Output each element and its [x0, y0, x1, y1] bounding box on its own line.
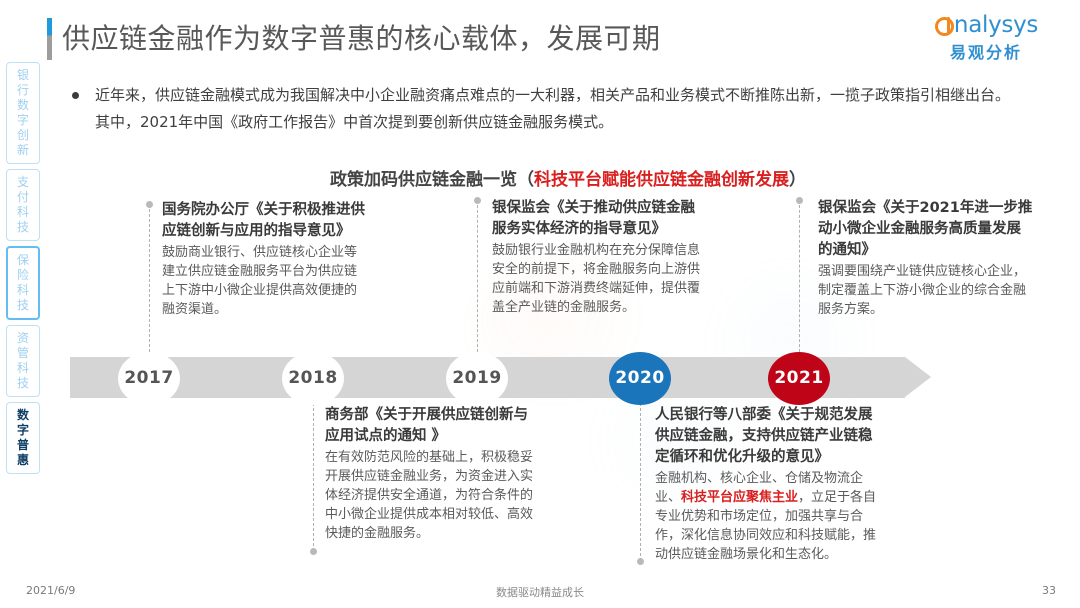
timeline-connector-dot	[637, 558, 644, 565]
event-heading: 银保监会《关于推动供应链金融服务实体经济的指导意见》	[492, 198, 707, 240]
sidebar-item-4[interactable]: 资管科技	[6, 325, 40, 397]
sidebar-item-1[interactable]: 银行数字创新	[6, 62, 40, 164]
timeline-year-2020[interactable]: 2020	[609, 352, 671, 405]
event-body: 鼓励银行业金融机构在充分保障信息安全的前提下，将金融服务向上游供应前端和下游消费…	[492, 241, 707, 317]
sidebar-item-label-char: 科	[17, 283, 29, 298]
lead-paragraph: 近年来，供应链金融模式成为我国解决中小企业融资痛点难点的一大利器，相关产品和业务…	[95, 82, 1010, 136]
event-body-highlight: 科技平台应聚焦主业	[681, 490, 798, 505]
timeline-year-2018[interactable]: 2018	[282, 352, 344, 405]
timeline-connector-dot	[796, 197, 803, 204]
sidebar-item-label-char: 字	[17, 423, 29, 438]
timeline-year-2019[interactable]: 2019	[446, 352, 508, 405]
sidebar-item-label-char: 技	[17, 298, 29, 313]
sidebar-item-label-char: 支	[17, 175, 29, 190]
sidebar-item-label-char: 字	[17, 113, 29, 128]
timeline-connector-line	[640, 398, 642, 561]
sidebar-item-label-char: 险	[17, 268, 29, 283]
sidebar-item-label-char: 新	[17, 143, 29, 158]
brand-logo: nalysys 易观分析	[922, 12, 1050, 63]
event-body-text: 在有效防范风险的基础上，积极稳妥开展供应链金融业务，为资金进入实体经济提供安全通…	[325, 450, 533, 541]
timeline-connector-line	[149, 204, 151, 357]
sidebar-item-label-char: 数	[17, 98, 29, 113]
sidebar-item-label-char: 科	[17, 361, 29, 376]
timeline-event-below-2020: 人民银行等八部委《关于规范发展供应链金融，支持供应链产业链稳定循环和优化升级的意…	[655, 405, 883, 564]
event-heading: 商务部《关于开展供应链创新与应用试点的通知 》	[325, 405, 540, 447]
section-title-highlight: 科技平台赋能供应链金融创新发展	[534, 170, 789, 190]
analysys-mark-icon	[934, 16, 953, 35]
slide-canvas: 供应链金融作为数字普惠的核心载体，发展可期 nalysys 易观分析 银行数字创…	[0, 0, 1080, 608]
sidebar-item-label-char: 科	[17, 205, 29, 220]
timeline-connector-dot	[146, 201, 153, 208]
footer-tagline: 数据驱动精益成长	[0, 584, 1080, 600]
timeline-year-2021[interactable]: 2021	[768, 352, 830, 405]
sidebar-item-label-char: 保	[17, 253, 29, 268]
sidebar-item-label-char: 行	[17, 83, 29, 98]
sidebar-item-label-char: 普	[17, 438, 29, 453]
event-body: 在有效防范风险的基础上，积极稳妥开展供应链金融业务，为资金进入实体经济提供安全通…	[325, 448, 540, 543]
sidebar-item-2[interactable]: 支付科技	[6, 169, 40, 241]
event-body: 鼓励商业银行、供应链核心企业等建立供应链金融服务平台为供应链上下游中小微企业提供…	[162, 243, 367, 319]
sidebar-tabs: 银行数字创新支付科技保险科技资管科技数字普惠	[6, 62, 40, 479]
sidebar-item-label-char: 银	[17, 68, 29, 83]
section-title-tail: ）	[789, 170, 806, 190]
sidebar-item-5[interactable]: 数字普惠	[6, 402, 40, 474]
timeline-connector-line	[477, 200, 479, 357]
sidebar-item-label-char: 技	[17, 220, 29, 235]
sidebar-item-label-char: 惠	[17, 453, 29, 468]
section-title-main: 政策加码供应链金融一览（	[330, 170, 534, 190]
logo-wordmark: nalysys	[954, 12, 1038, 38]
event-heading: 银保监会《关于2021年进一步推动小微企业金融服务高质量发展的通知》	[818, 198, 1033, 261]
event-body: 强调要围绕产业链供应链核心企业，制定覆盖上下游小微企业的综合金融服务方案。	[818, 262, 1033, 319]
timeline-connector-line	[799, 200, 801, 357]
timeline-connector-dot	[474, 197, 481, 204]
sidebar-item-label-char: 创	[17, 128, 29, 143]
event-body: 金融机构、核心企业、仓储及物流企业、科技平台应聚焦主业，立足于各自专业优势和市场…	[655, 469, 883, 564]
slide-footer: 2021/6/9 数据驱动精益成长 33	[0, 584, 1080, 600]
page-title: 供应链金融作为数字普惠的核心载体，发展可期	[62, 17, 661, 57]
logo-chinese-name: 易观分析	[922, 39, 1050, 63]
sidebar-item-label-char: 资	[17, 331, 29, 346]
sidebar-item-label-char: 付	[17, 190, 29, 205]
timeline-connector-line	[313, 398, 315, 551]
timeline-event-below-2018: 商务部《关于开展供应链创新与应用试点的通知 》在有效防范风险的基础上，积极稳妥开…	[325, 405, 540, 543]
section-title: 政策加码供应链金融一览（科技平台赋能供应链金融创新发展）	[330, 165, 806, 190]
timeline-arrow-icon	[905, 357, 931, 397]
sidebar-item-label-char: 数	[17, 408, 29, 423]
timeline-event-above-2017: 国务院办公厅《关于积极推进供应链创新与应用的指导意见》鼓励商业银行、供应链核心企…	[162, 200, 367, 319]
event-heading: 国务院办公厅《关于积极推进供应链创新与应用的指导意见》	[162, 200, 367, 242]
timeline-year-2017[interactable]: 2017	[118, 352, 180, 405]
sidebar-item-label-char: 技	[17, 376, 29, 391]
footer-page-number: 33	[1042, 584, 1056, 597]
sidebar-item-3[interactable]: 保险科技	[6, 246, 40, 320]
bullet-marker-icon	[72, 84, 86, 99]
timeline-event-above-2019: 银保监会《关于推动供应链金融服务实体经济的指导意见》鼓励银行业金融机构在充分保障…	[492, 198, 707, 317]
timeline-event-above-2021: 银保监会《关于2021年进一步推动小微企业金融服务高质量发展的通知》强调要围绕产…	[818, 198, 1033, 319]
timeline-connector-dot	[310, 548, 317, 555]
event-heading: 人民银行等八部委《关于规范发展供应链金融，支持供应链产业链稳定循环和优化升级的意…	[655, 405, 883, 468]
sidebar-item-label-char: 管	[17, 346, 29, 361]
title-accent-bar	[47, 18, 52, 60]
